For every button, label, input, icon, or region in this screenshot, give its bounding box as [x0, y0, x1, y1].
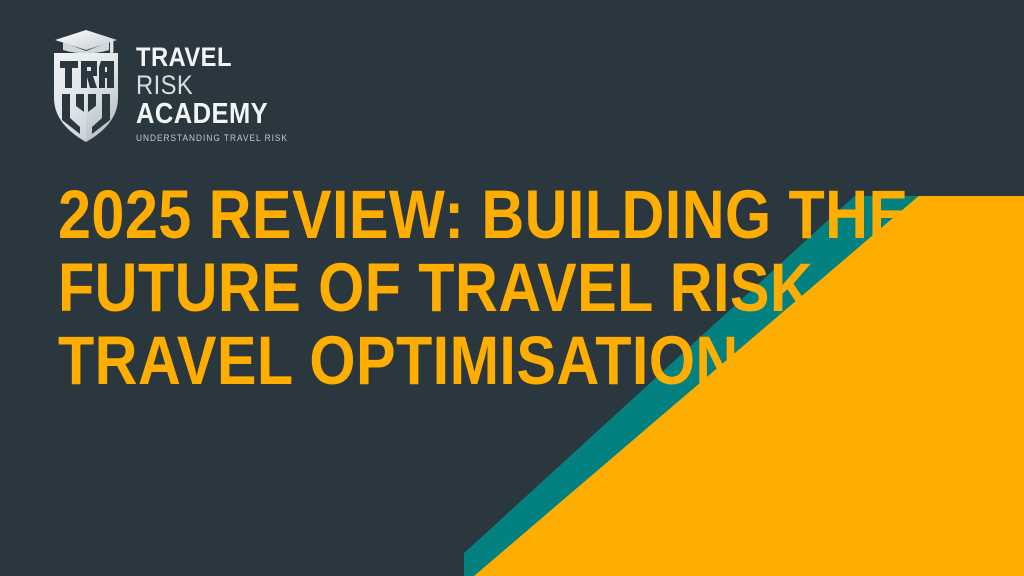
- slide-headline: 2025 REVIEW: BUILDING THE FUTURE OF TRAV…: [58, 178, 818, 397]
- logo-wordmark: TRAVEL RISK ACADEMY UNDERSTANDING TRAVEL…: [136, 28, 301, 143]
- logo-word-travel: TRAVEL: [136, 44, 281, 71]
- logo-tagline: UNDERSTANDING TRAVEL RISK: [136, 134, 288, 143]
- graduation-cap-shape: [55, 30, 117, 54]
- logo-lockup: TRAVEL RISK ACADEMY UNDERSTANDING TRAVEL…: [50, 28, 301, 144]
- logo-word-risk: RISK: [136, 72, 281, 99]
- logo-word-academy: ACADEMY: [136, 100, 281, 129]
- headline-line-1: 2025 REVIEW: BUILDING THE: [58, 178, 712, 251]
- headline-line-3: TRAVEL OPTIMISATION: [58, 324, 712, 397]
- title-slide: TRAVEL RISK ACADEMY UNDERSTANDING TRAVEL…: [0, 0, 1024, 576]
- tra-shield-graduation-cap-icon: [50, 28, 122, 144]
- headline-line-2: FUTURE OF TRAVEL RISK &: [58, 251, 712, 324]
